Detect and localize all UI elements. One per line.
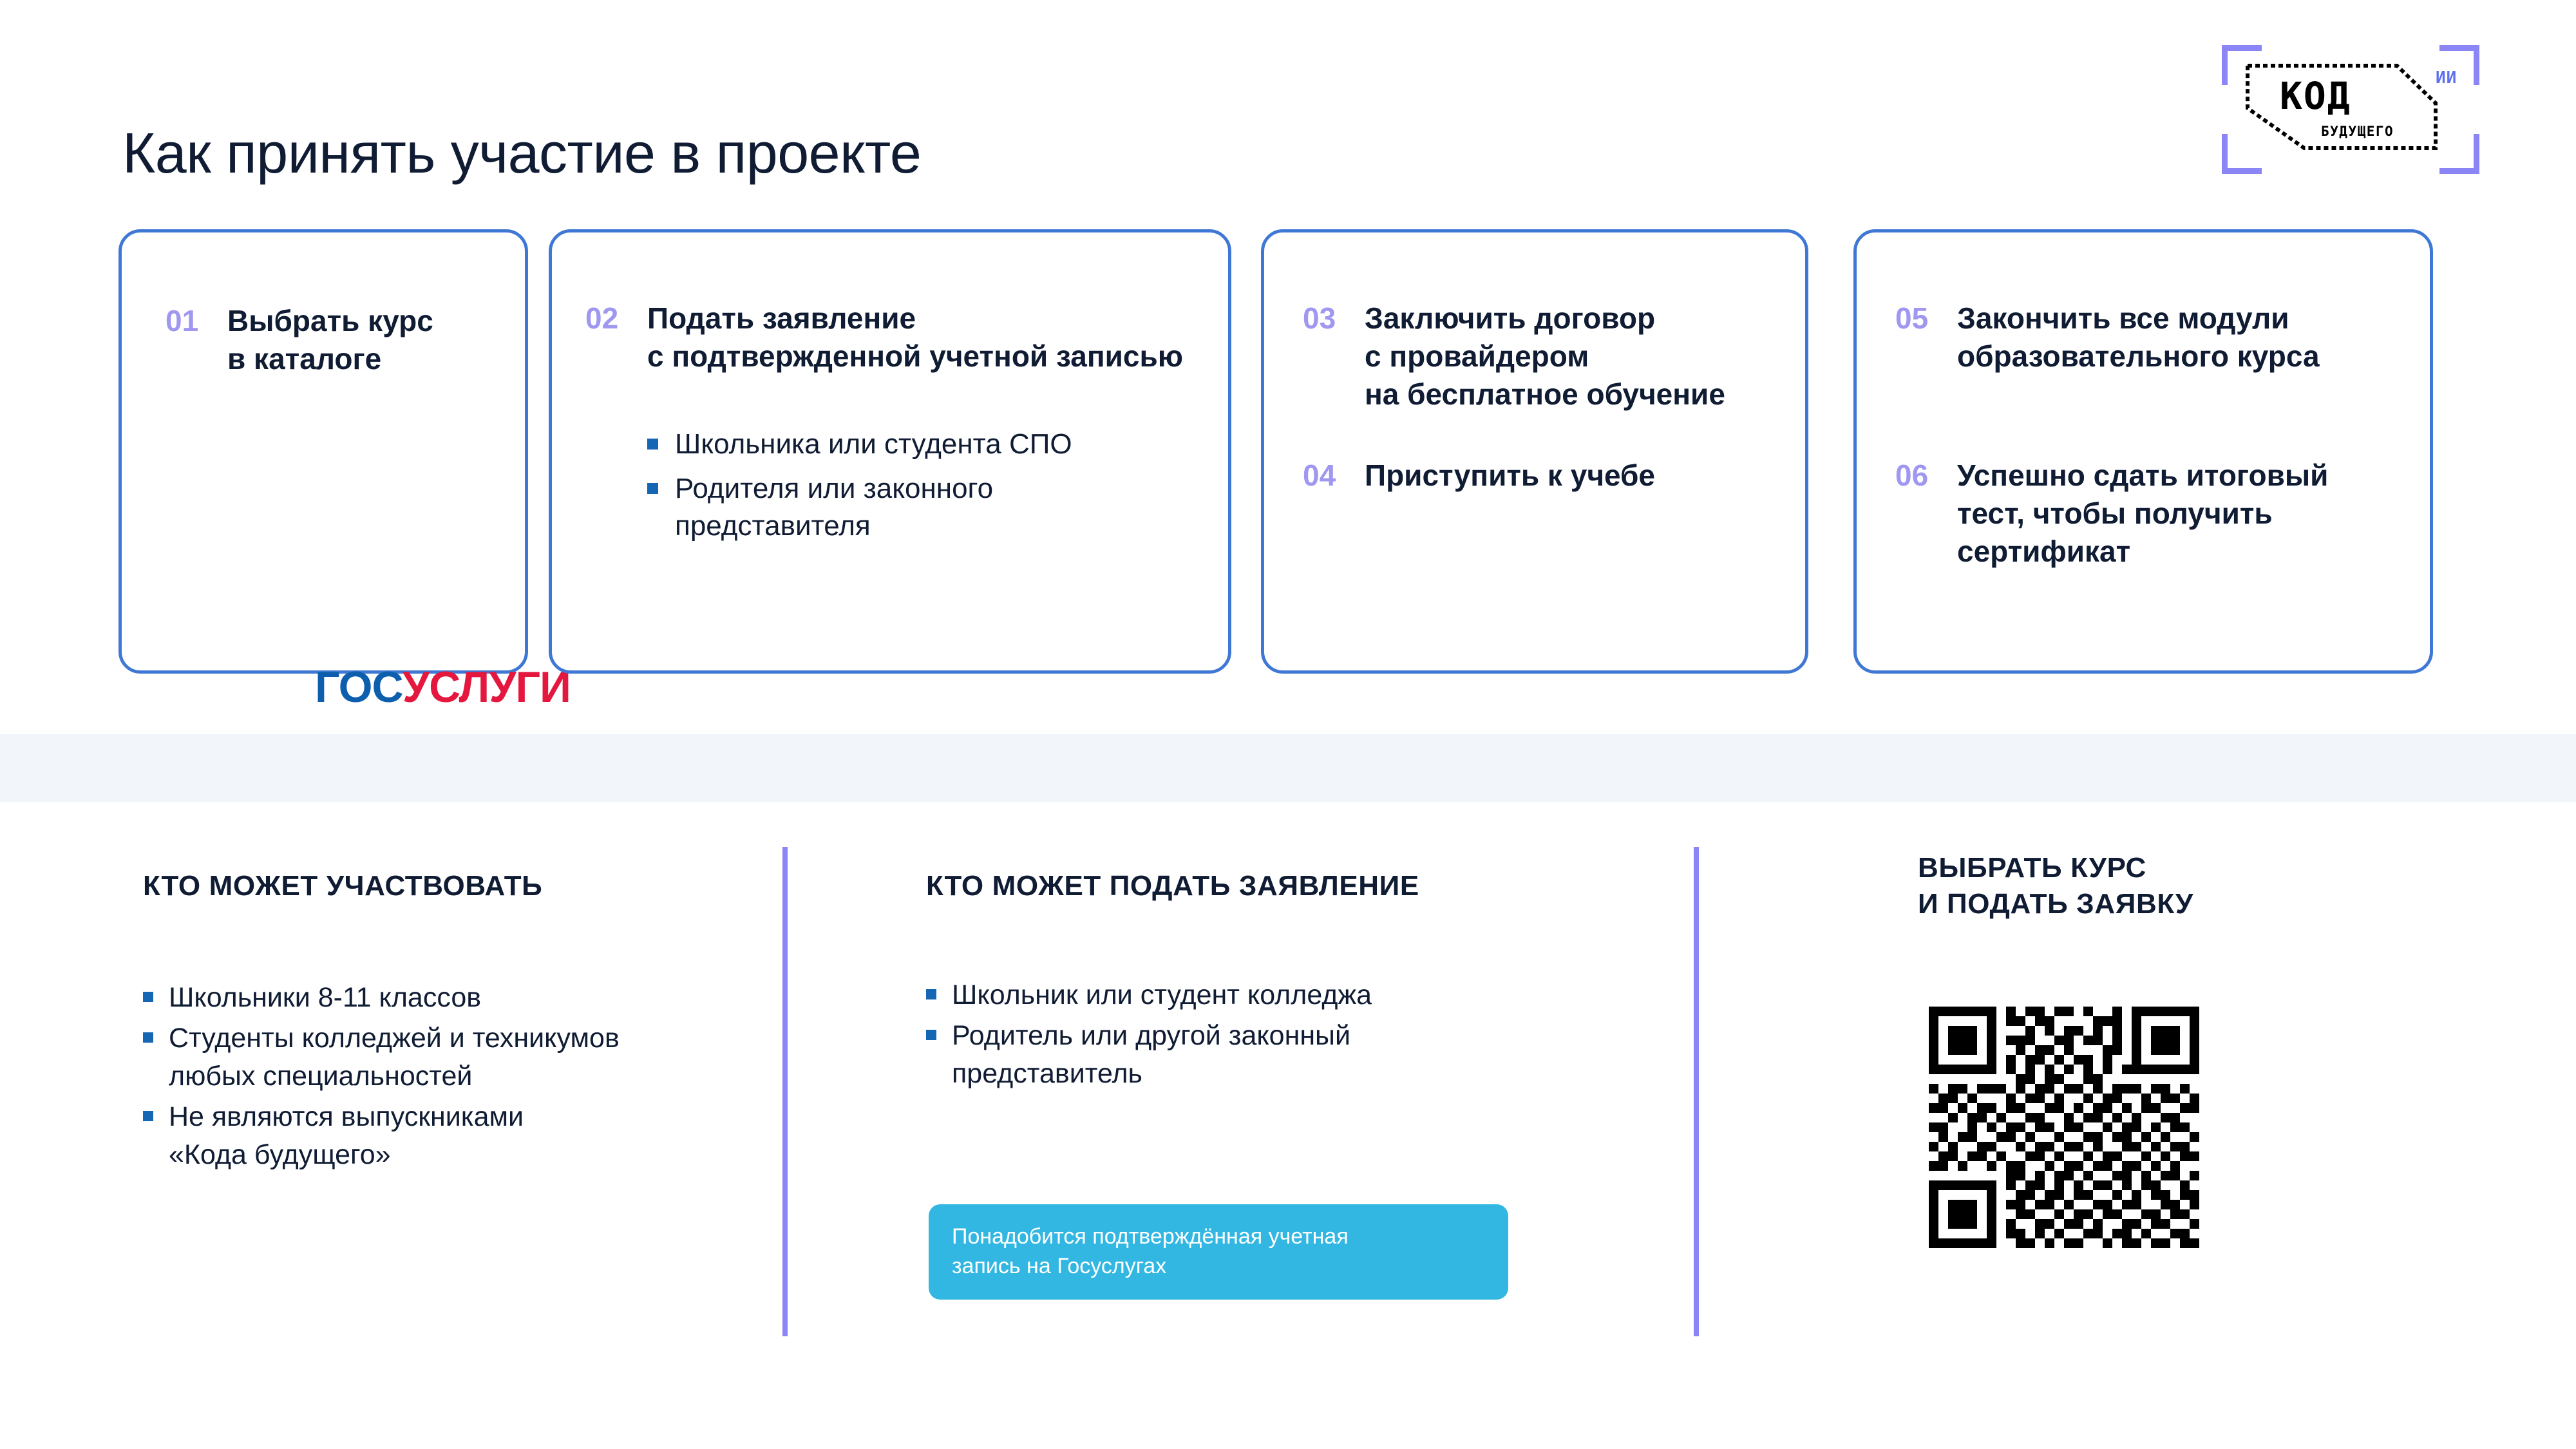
step-number: 02 bbox=[585, 299, 647, 337]
list-item: Студенты колледжей и техникумов любых сп… bbox=[143, 1019, 748, 1095]
bracket-bottom-right-icon bbox=[2439, 134, 2479, 174]
page-title: Как принять участие в проекте bbox=[122, 120, 921, 186]
column-list: Школьник или студент колледжа Родитель и… bbox=[926, 976, 1647, 1093]
step-label: Закончить все модули образовательного ку… bbox=[1957, 299, 2320, 375]
step-card-01: 01 Выбрать курс в каталоге ГОСУСЛУГИ bbox=[118, 229, 528, 674]
step-card-04: 05 Закончить все модули образовательного… bbox=[1853, 229, 2433, 674]
step-04: 04 Приступить к учебе bbox=[1303, 457, 1655, 495]
step-number: 05 bbox=[1895, 299, 1957, 337]
list-item-label: Школьники 8-11 классов bbox=[169, 979, 481, 1017]
step-02: 02 Подать заявление с подтвержденной уче… bbox=[585, 299, 1183, 375]
gosuslugi-logo: ГОСУСЛУГИ bbox=[315, 665, 571, 709]
column-heading: ВЫБРАТЬ КУРС И ПОДАТЬ ЗАЯВКУ bbox=[1918, 850, 2433, 923]
column-separator-2 bbox=[1694, 847, 1699, 1336]
list-item-label: Родителя или законного представителя bbox=[675, 470, 993, 545]
list-item-label: Родитель или другой законный представите… bbox=[952, 1017, 1350, 1093]
column-heading: КТО МОЖЕТ УЧАСТВОВАТЬ bbox=[143, 868, 748, 904]
brand-logo: КОД БУДУЩЕГО ИИ bbox=[2222, 45, 2479, 174]
info-column-apply-cta: ВЫБРАТЬ КУРС И ПОДАТЬ ЗАЯВКУ bbox=[1918, 850, 2433, 923]
bullet-square-icon bbox=[143, 1032, 153, 1043]
bullet-square-icon bbox=[143, 1111, 153, 1121]
list-item: Не являются выпускниками «Кода будущего» bbox=[143, 1098, 748, 1174]
section-divider-band bbox=[0, 734, 2576, 802]
step-label: Подать заявление с подтвержденной учетно… bbox=[647, 299, 1183, 375]
step-card-03: 03 Заключить договор с провайдером на бе… bbox=[1261, 229, 1808, 674]
bullet-square-icon bbox=[647, 483, 658, 494]
brand-word-main: КОД bbox=[2280, 77, 2351, 115]
brand-plate-shape: КОД БУДУЩЕГО bbox=[2245, 63, 2438, 151]
list-item-label: Не являются выпускниками «Кода будущего» bbox=[169, 1098, 524, 1174]
step-card-02: 02 Подать заявление с подтвержденной уче… bbox=[549, 229, 1231, 674]
step-number: 06 bbox=[1895, 457, 1957, 495]
list-item-label: Школьник или студент колледжа bbox=[952, 976, 1372, 1014]
notice-text: Понадобится подтверждённая учетная запис… bbox=[952, 1224, 1349, 1278]
bullet-square-icon bbox=[647, 439, 658, 450]
list-item: Родитель или другой законный представите… bbox=[926, 1017, 1647, 1093]
step-02-bullet-list: Школьника или студента СПО Родителя или … bbox=[647, 426, 1182, 552]
list-item: Школьника или студента СПО bbox=[647, 426, 1182, 464]
step-label: Заключить договор с провайдером на беспл… bbox=[1365, 299, 1725, 413]
gosuslugi-account-notice: Понадобится подтверждённая учетная запис… bbox=[929, 1204, 1508, 1300]
step-number: 01 bbox=[166, 302, 227, 340]
info-column-applicants: КТО МОЖЕТ ПОДАТЬ ЗАЯВЛЕНИЕ Школьник или … bbox=[926, 868, 1647, 1095]
brand-word-sub: БУДУЩЕГО bbox=[2321, 125, 2394, 138]
list-item: Родителя или законного представителя bbox=[647, 470, 1182, 545]
list-item-label: Студенты колледжей и техникумов любых сп… bbox=[169, 1019, 620, 1095]
step-01: 01 Выбрать курс в каталоге bbox=[166, 302, 433, 378]
gosuslugi-part-blue: ГОС bbox=[315, 663, 402, 712]
list-item: Школьник или студент колледжа bbox=[926, 976, 1647, 1014]
step-06: 06 Успешно сдать итоговый тест, чтобы по… bbox=[1895, 457, 2328, 571]
step-label: Приступить к учебе bbox=[1365, 457, 1655, 495]
brand-badge-ai: ИИ bbox=[2436, 68, 2457, 88]
step-number: 04 bbox=[1303, 457, 1365, 495]
step-03: 03 Заключить договор с провайдером на бе… bbox=[1303, 299, 1725, 413]
info-column-participants: КТО МОЖЕТ УЧАСТВОВАТЬ Школьники 8-11 кла… bbox=[143, 868, 748, 1177]
list-item-label: Школьника или студента СПО bbox=[675, 426, 1072, 464]
column-separator-1 bbox=[782, 847, 788, 1336]
bullet-square-icon bbox=[926, 989, 936, 999]
gosuslugi-part-red: УСЛУГИ bbox=[402, 663, 571, 712]
column-list: Школьники 8-11 классов Студенты колледже… bbox=[143, 979, 748, 1174]
bullet-square-icon bbox=[926, 1030, 936, 1040]
step-label: Выбрать курс в каталоге bbox=[227, 302, 433, 378]
list-item: Школьники 8-11 классов bbox=[143, 979, 748, 1017]
slide-root: Как принять участие в проекте КОД БУДУЩЕ… bbox=[0, 0, 2576, 1449]
column-heading: КТО МОЖЕТ ПОДАТЬ ЗАЯВЛЕНИЕ bbox=[926, 868, 1647, 904]
qr-code[interactable] bbox=[1919, 997, 2209, 1287]
bullet-square-icon bbox=[143, 992, 153, 1002]
step-05: 05 Закончить все модули образовательного… bbox=[1895, 299, 2320, 375]
step-label: Успешно сдать итоговый тест, чтобы получ… bbox=[1957, 457, 2328, 571]
step-number: 03 bbox=[1303, 299, 1365, 337]
